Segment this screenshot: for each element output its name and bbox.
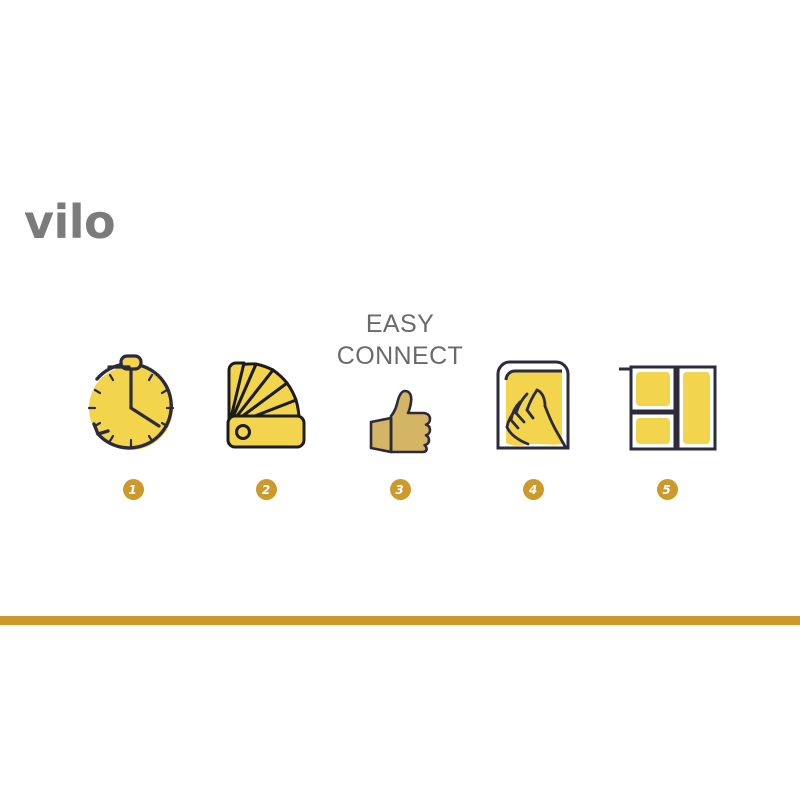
hand-wiping-cloth-icon <box>480 352 588 456</box>
brand-wordmark: vilo <box>24 198 115 249</box>
thumbs-up-icon <box>363 386 437 454</box>
step-badge-2: 2 <box>256 479 277 500</box>
feature-strip: 1 2 <box>72 300 728 500</box>
feature-item-3[interactable]: EASY CONNECT 3 <box>339 300 461 500</box>
stopwatch-icon <box>79 348 187 456</box>
feature-item-1[interactable]: 1 <box>72 300 194 500</box>
bottom-accent-rule <box>0 616 800 625</box>
step-badge-3: 3 <box>390 479 411 500</box>
feature-item-4[interactable]: 4 <box>473 300 595 500</box>
feature-icon-3-wrap: EASY CONNECT <box>339 304 461 456</box>
step-badge-4: 4 <box>523 479 544 500</box>
feature-icon-1-wrap <box>72 304 194 456</box>
step-badge-1: 1 <box>123 479 144 500</box>
feature-item-2[interactable]: 2 <box>206 300 328 500</box>
feature-icon-4-wrap <box>473 304 595 456</box>
brand-logo: vilo <box>24 198 194 250</box>
feature-icon-2-wrap <box>206 304 328 456</box>
feature-icon-5-wrap <box>606 304 728 456</box>
step-badge-5: 5 <box>657 479 678 500</box>
color-swatch-fan-icon <box>213 348 321 456</box>
feature-item-5[interactable]: 5 <box>606 300 728 500</box>
panel-layout-icon <box>615 356 719 456</box>
easy-connect-caption: EASY CONNECT <box>327 308 473 372</box>
